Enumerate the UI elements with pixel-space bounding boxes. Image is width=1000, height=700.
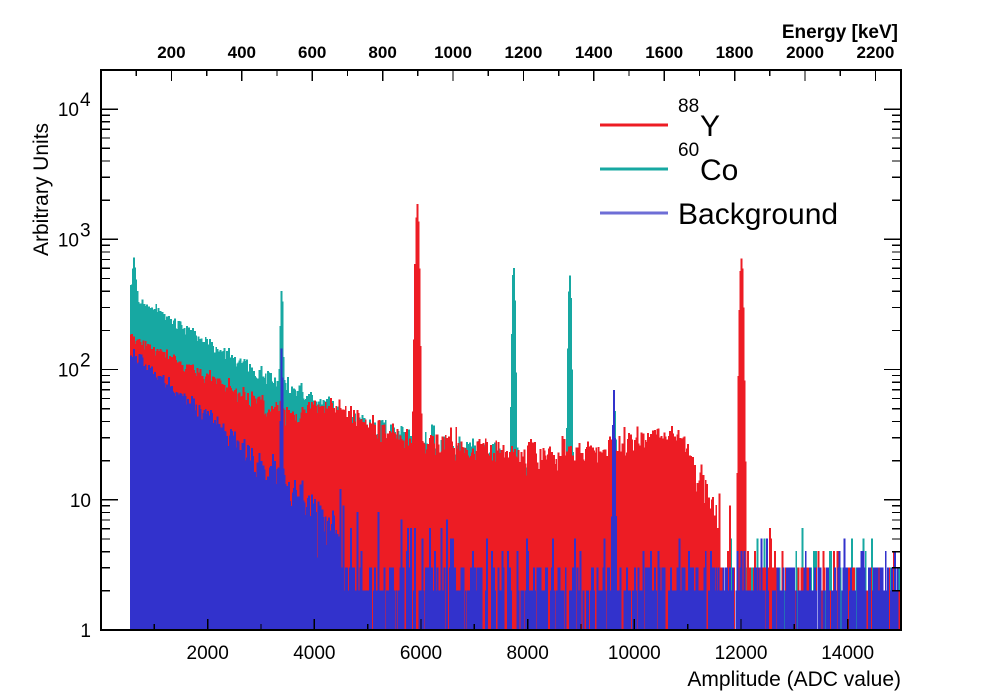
ytick-label: 10 — [58, 230, 79, 251]
ytick-label: 10 — [58, 361, 79, 382]
ytick-label: 10 — [70, 491, 91, 512]
ytick-label-group: 10 — [70, 491, 91, 512]
legend-label-superscript: 88 — [678, 96, 699, 117]
x-axis-title: Amplitude (ADC value) — [687, 668, 901, 691]
y-axis-title: Arbitrary Units — [30, 123, 53, 256]
x2tick-label: 1200 — [504, 43, 542, 62]
legend-label: Background — [678, 198, 838, 231]
x2tick-label: 400 — [228, 43, 256, 62]
x2tick-label: 2000 — [786, 43, 824, 62]
x2tick-label: 2200 — [856, 43, 894, 62]
x2tick-label: 1400 — [575, 43, 613, 62]
x2tick-label: 1000 — [434, 43, 472, 62]
ytick-label-exponent: 4 — [80, 90, 91, 111]
xtick-label: 6000 — [400, 643, 442, 664]
ytick-label: 1 — [80, 621, 91, 642]
chart-canvas: 2000400060008000100001200014000Amplitude… — [0, 0, 1000, 700]
x2tick-label: 1800 — [716, 43, 754, 62]
ytick-label-exponent: 2 — [80, 351, 91, 372]
x2-axis-title: Energy [keV] — [782, 22, 898, 43]
x2tick-label: 200 — [157, 43, 185, 62]
spectrum-plot: 2000400060008000100001200014000Amplitude… — [0, 0, 1000, 700]
xtick-label: 8000 — [507, 643, 549, 664]
x2tick-label: 1600 — [645, 43, 683, 62]
xtick-label: 12000 — [715, 643, 768, 664]
legend-label-superscript: 60 — [678, 140, 699, 161]
xtick-label: 4000 — [293, 643, 335, 664]
ytick-label-exponent: 3 — [80, 220, 91, 241]
x2tick-label: 800 — [368, 43, 396, 62]
ytick-label-group: 1 — [80, 621, 91, 642]
legend-label: Co — [700, 154, 738, 187]
xtick-label: 10000 — [608, 643, 661, 664]
x2tick-label: 600 — [298, 43, 326, 62]
legend-label: Y — [700, 110, 720, 143]
ytick-label: 10 — [58, 100, 79, 121]
xtick-label: 2000 — [187, 643, 229, 664]
xtick-label: 14000 — [821, 643, 874, 664]
